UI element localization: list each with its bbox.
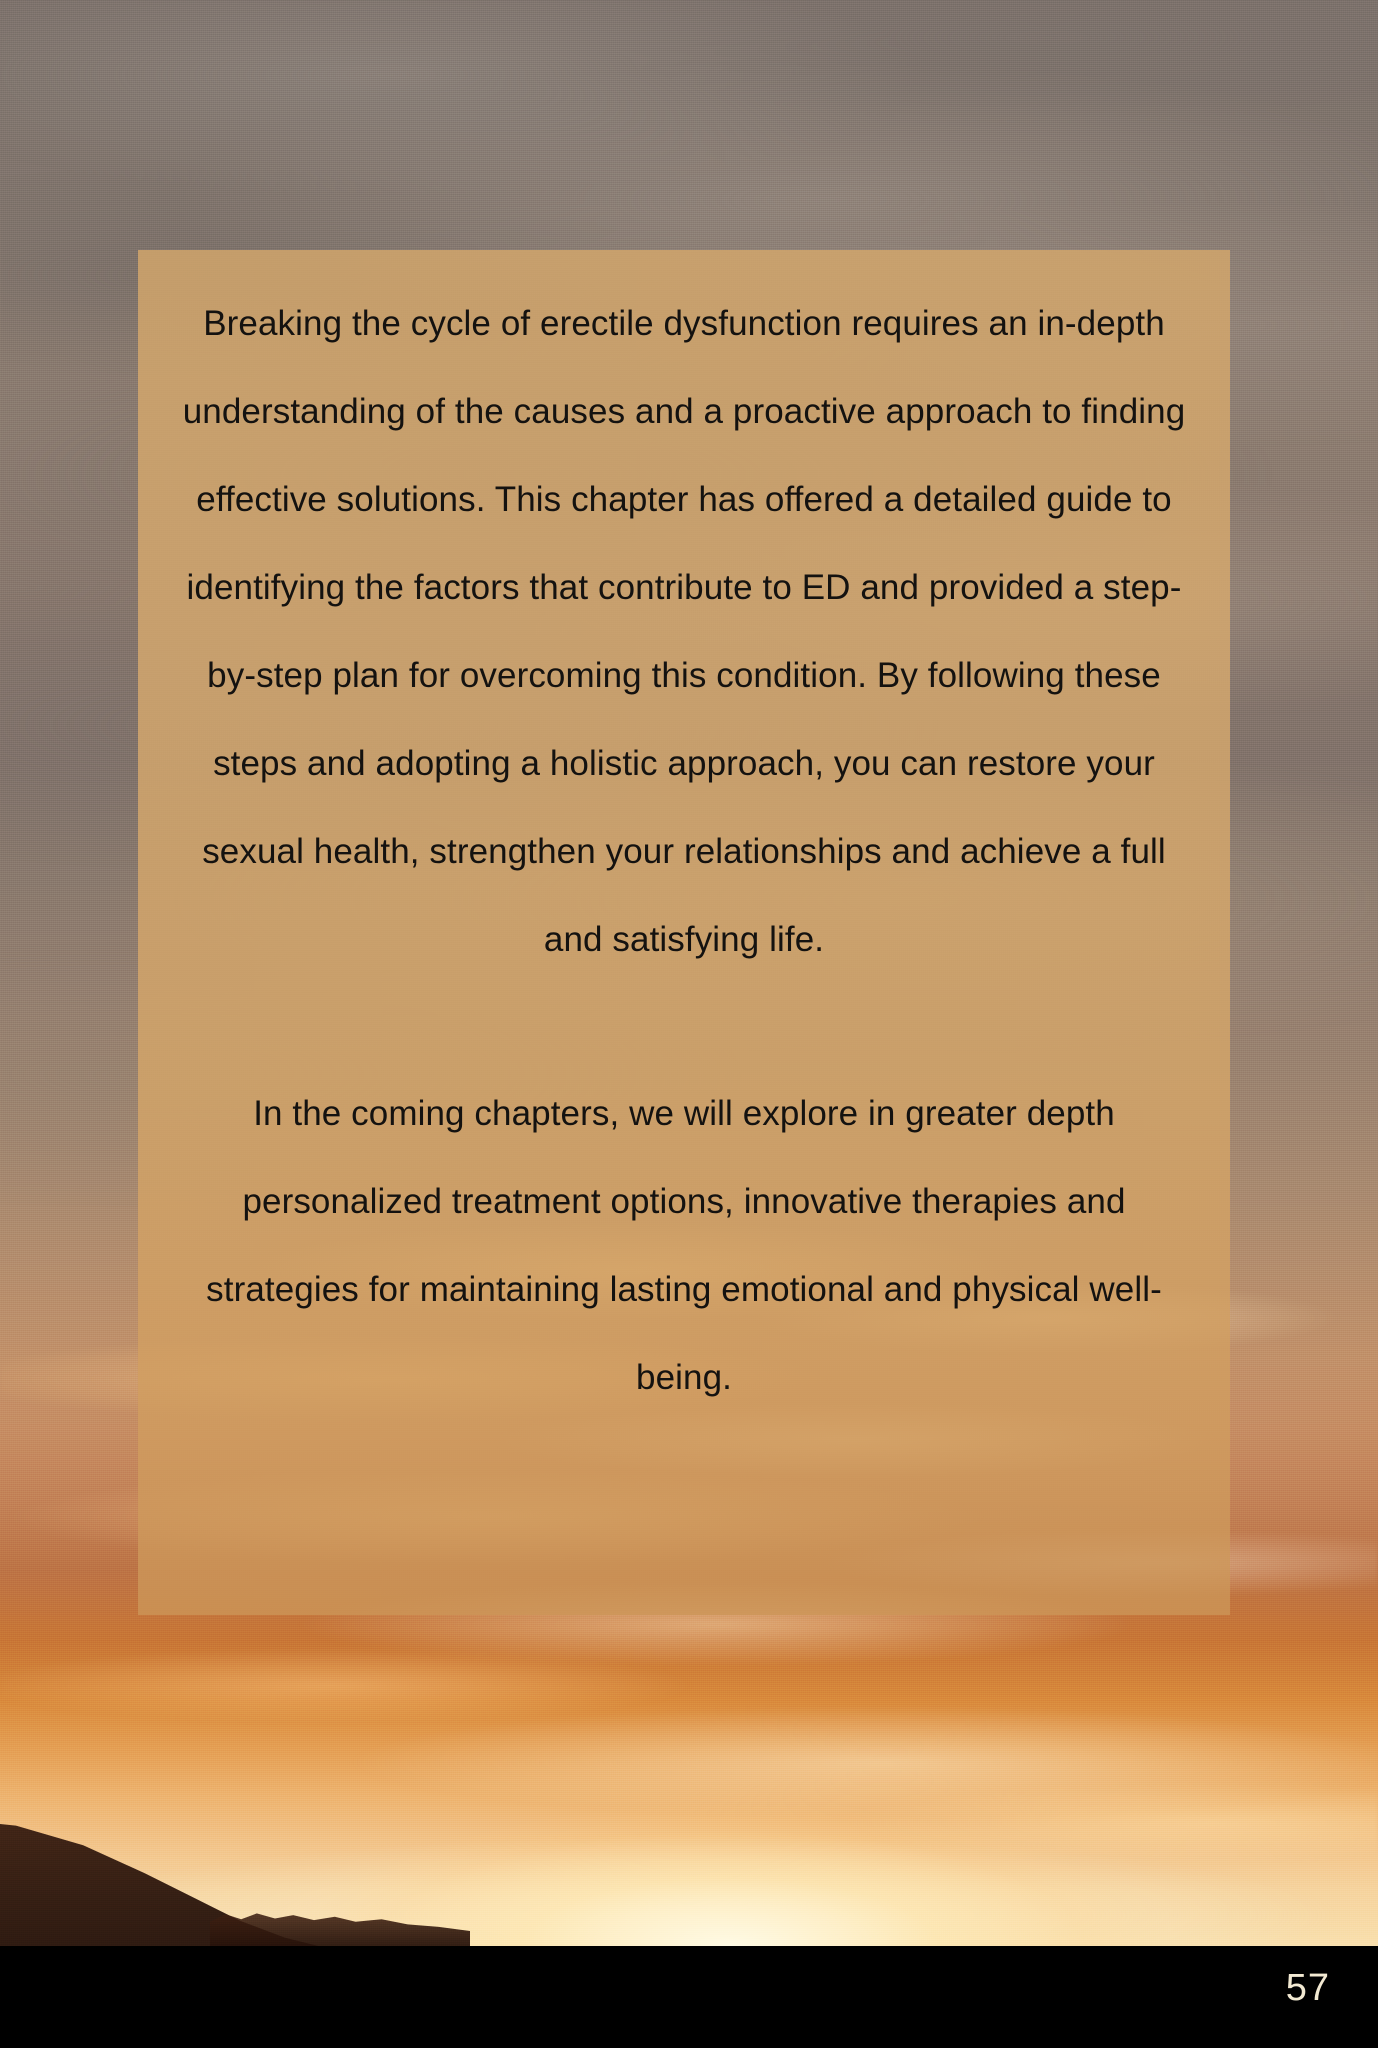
sun-glow [0,1640,1378,1946]
book-page: Breaking the cycle of erectile dysfuncti… [0,0,1378,2048]
body-paragraph-2: In the coming chapters, we will explore … [172,1070,1196,1422]
body-paragraph-1: Breaking the cycle of erectile dysfuncti… [172,280,1196,984]
page-number: 57 [1286,1966,1330,2010]
footer-band [0,1946,1378,2048]
text-overlay-panel: Breaking the cycle of erectile dysfuncti… [138,250,1230,1615]
